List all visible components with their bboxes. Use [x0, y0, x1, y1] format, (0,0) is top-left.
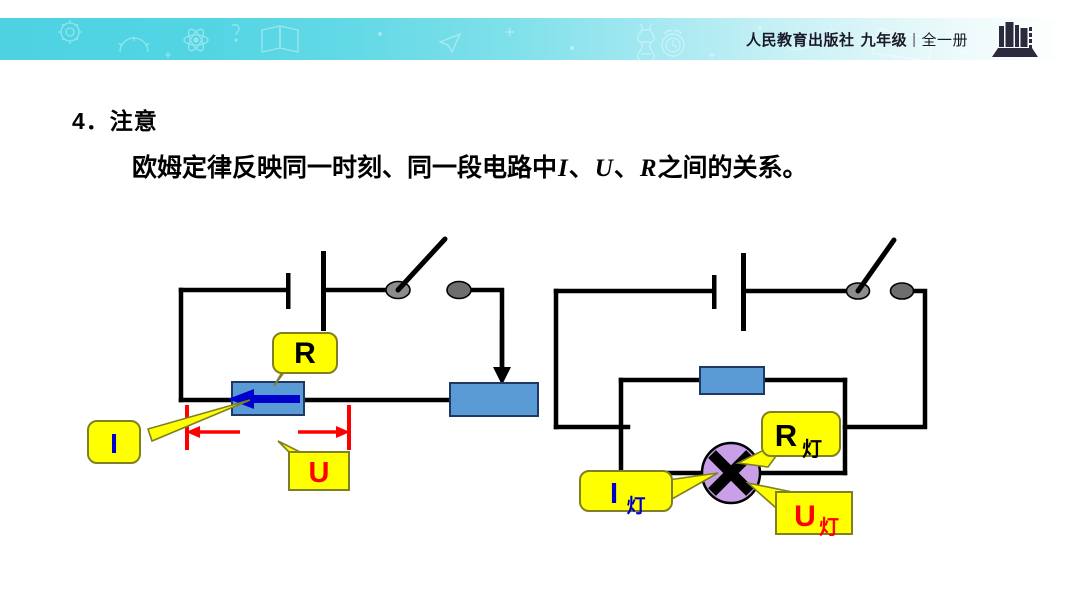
banner-grade: 九年级	[861, 29, 908, 50]
page-body-text: 欧姆定律反映同一时刻、同一段电路中I、U、R之间的关系。	[132, 148, 808, 184]
variable-R: R	[639, 155, 658, 182]
callout-R-lamp-base: R	[775, 418, 797, 453]
circuit-diagrams: R I U	[0, 215, 1066, 575]
callout-I-text: I	[110, 428, 118, 459]
lamp-symbol	[702, 443, 760, 503]
callout-R-lamp: R 灯	[738, 412, 840, 467]
banner-volume: 全一册	[921, 29, 968, 50]
battery-symbol	[286, 251, 326, 331]
callout-U-lamp-sub: 灯	[819, 516, 839, 539]
callout-I-lamp: I 灯	[580, 471, 718, 517]
callout-I-lamp-sub: 灯	[626, 495, 645, 517]
body-sep-2: 、	[614, 154, 639, 182]
body-suffix: 之间的关系。	[658, 154, 808, 182]
callout-U: U	[278, 441, 349, 490]
banner-separator: |	[912, 31, 916, 48]
wire-right-switch-to-branch	[845, 291, 925, 427]
callout-R-lamp-sub: 灯	[802, 438, 822, 461]
banner-publisher: 人民教育出版社	[746, 29, 855, 50]
slide-page: 人民教育出版社 九年级 | 全一册 4．注意 欧姆定律反映同一时刻、同一段电路中…	[0, 0, 1066, 600]
variable-I: I	[557, 155, 569, 182]
left-circuit: R I U	[88, 239, 538, 490]
callout-R-text: R	[294, 337, 316, 370]
banner-title: 人民教育出版社 九年级 | 全一册	[746, 18, 968, 60]
variable-U: U	[594, 155, 614, 182]
callout-U-lamp-base: U	[794, 500, 816, 533]
callout-I-lamp-base: I	[610, 478, 618, 510]
body-prefix: 欧姆定律反映同一时刻、同一段电路中	[132, 154, 557, 182]
battery-symbol-right	[712, 253, 746, 331]
right-circuit: R 灯 I 灯 U 灯	[556, 240, 925, 539]
resistor-secondary	[450, 383, 538, 416]
wire-switch-to-resistor	[467, 290, 502, 375]
body-sep-1: 、	[569, 154, 594, 182]
switch-symbol-right	[847, 240, 914, 299]
callout-U-text: U	[309, 457, 330, 489]
resistor-branch	[700, 367, 764, 394]
callout-R: R	[273, 333, 337, 386]
switch-symbol	[386, 239, 471, 299]
callout-U-lamp: U 灯	[748, 483, 852, 539]
books-icon	[986, 20, 1044, 58]
page-heading: 4．注意	[72, 102, 158, 136]
arrow-to-resistor	[493, 320, 511, 385]
